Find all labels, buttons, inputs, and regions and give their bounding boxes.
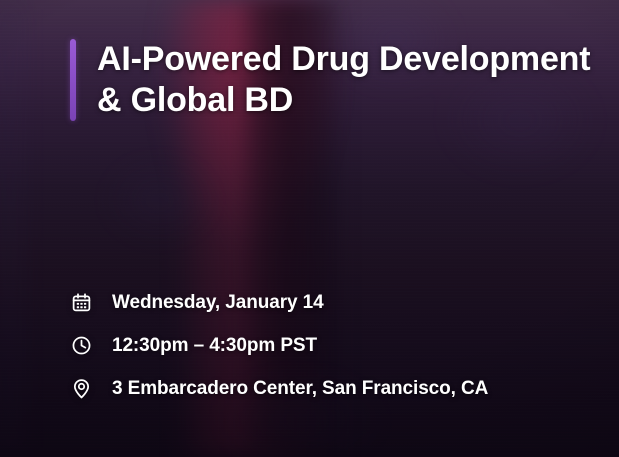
detail-label-time: 12:30pm – 4:30pm PST <box>112 335 317 357</box>
detail-label-date: Wednesday, January 14 <box>112 292 324 314</box>
location-pin-icon <box>71 378 92 399</box>
title-block: AI-Powered Drug Development & Global BD <box>70 39 590 121</box>
detail-row-location: 3 Embarcadero Center, San Francisco, CA <box>71 367 488 410</box>
detail-row-time: 12:30pm – 4:30pm PST <box>71 324 488 367</box>
detail-label-location: 3 Embarcadero Center, San Francisco, CA <box>112 378 488 400</box>
clock-icon <box>71 335 92 356</box>
event-details-list: Wednesday, January 14 12:30pm – 4:30pm P… <box>71 281 488 410</box>
event-title: AI-Powered Drug Development & Global BD <box>97 39 590 121</box>
event-banner-card: AI-Powered Drug Development & Global BD … <box>0 0 619 457</box>
calendar-icon <box>71 292 92 313</box>
detail-row-date: Wednesday, January 14 <box>71 281 488 324</box>
card-content: AI-Powered Drug Development & Global BD … <box>0 0 619 457</box>
title-accent-bar <box>70 39 76 121</box>
